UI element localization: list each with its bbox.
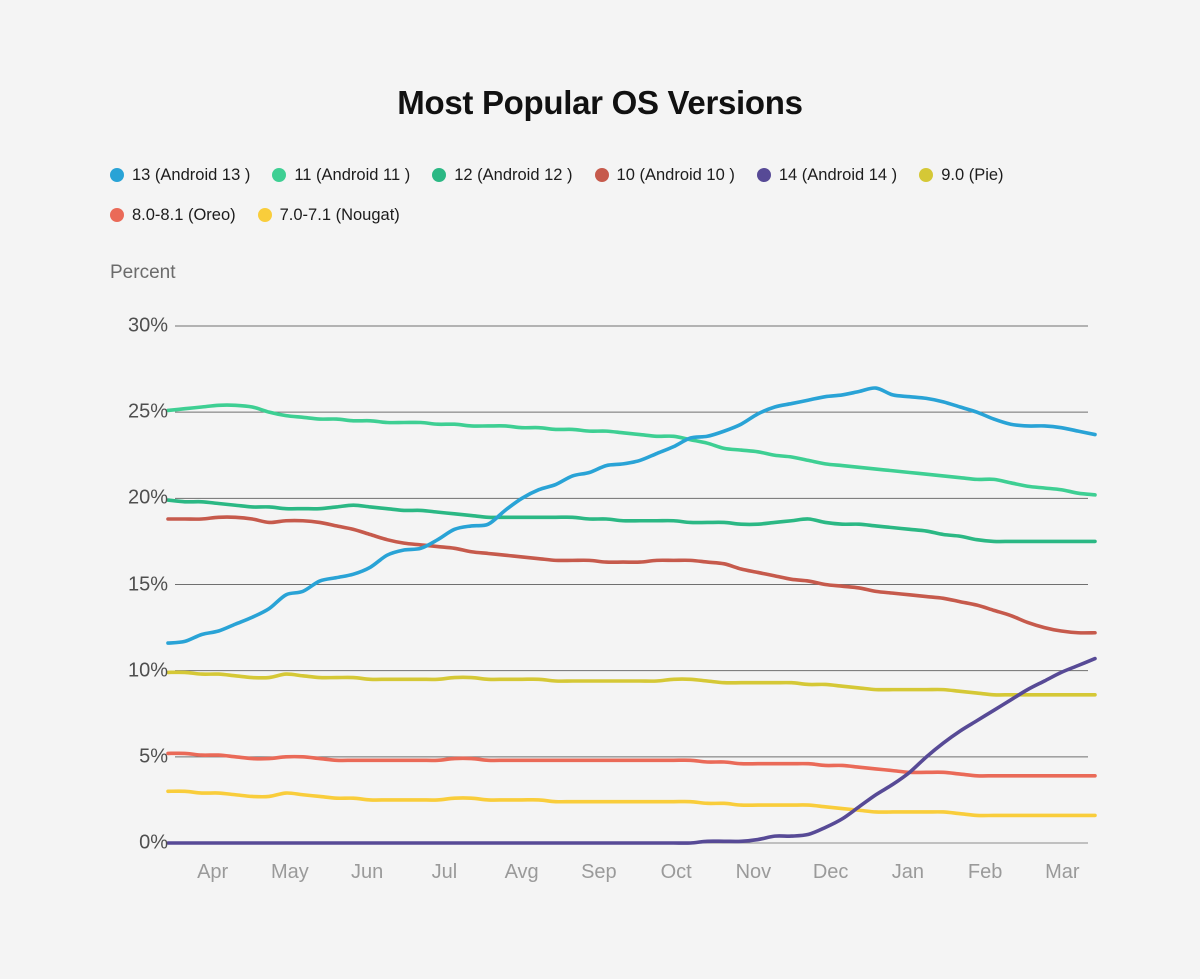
plot-area — [0, 0, 1200, 974]
y-axis-tick-label: 5% — [108, 745, 168, 768]
series-line[interactable] — [168, 388, 1095, 643]
x-axis-tick-label: Feb — [968, 861, 1002, 884]
x-axis-tick-label: May — [271, 861, 309, 884]
x-axis-tick-label: Avg — [505, 861, 539, 884]
y-axis-tick-label: 0% — [108, 832, 168, 855]
y-axis-tick-label: 15% — [108, 573, 168, 596]
x-axis-tick-label: Oct — [661, 861, 692, 884]
y-axis-tick-label: 10% — [108, 659, 168, 682]
y-axis-tick-label: 25% — [108, 401, 168, 424]
chart-page: Most Popular OS Versions 13 (Android 13 … — [0, 0, 1200, 974]
series-line[interactable] — [168, 791, 1095, 815]
x-axis-tick-label: Jul — [432, 861, 458, 884]
x-axis-tick-label: Mar — [1045, 861, 1079, 884]
series-line[interactable] — [168, 405, 1095, 495]
x-axis-tick-label: Jan — [892, 861, 924, 884]
x-axis-tick-label: Nov — [736, 861, 772, 884]
x-axis-tick-label: Jun — [351, 861, 383, 884]
series-line[interactable] — [168, 672, 1095, 695]
x-axis-tick-label: Dec — [813, 861, 849, 884]
chart-svg — [0, 0, 1200, 974]
series-line[interactable] — [168, 659, 1095, 844]
x-axis-tick-label: Apr — [197, 861, 228, 884]
x-axis-tick-label: Sep — [581, 861, 617, 884]
y-axis-tick-label: 20% — [108, 487, 168, 510]
y-axis-tick-label: 30% — [108, 315, 168, 338]
